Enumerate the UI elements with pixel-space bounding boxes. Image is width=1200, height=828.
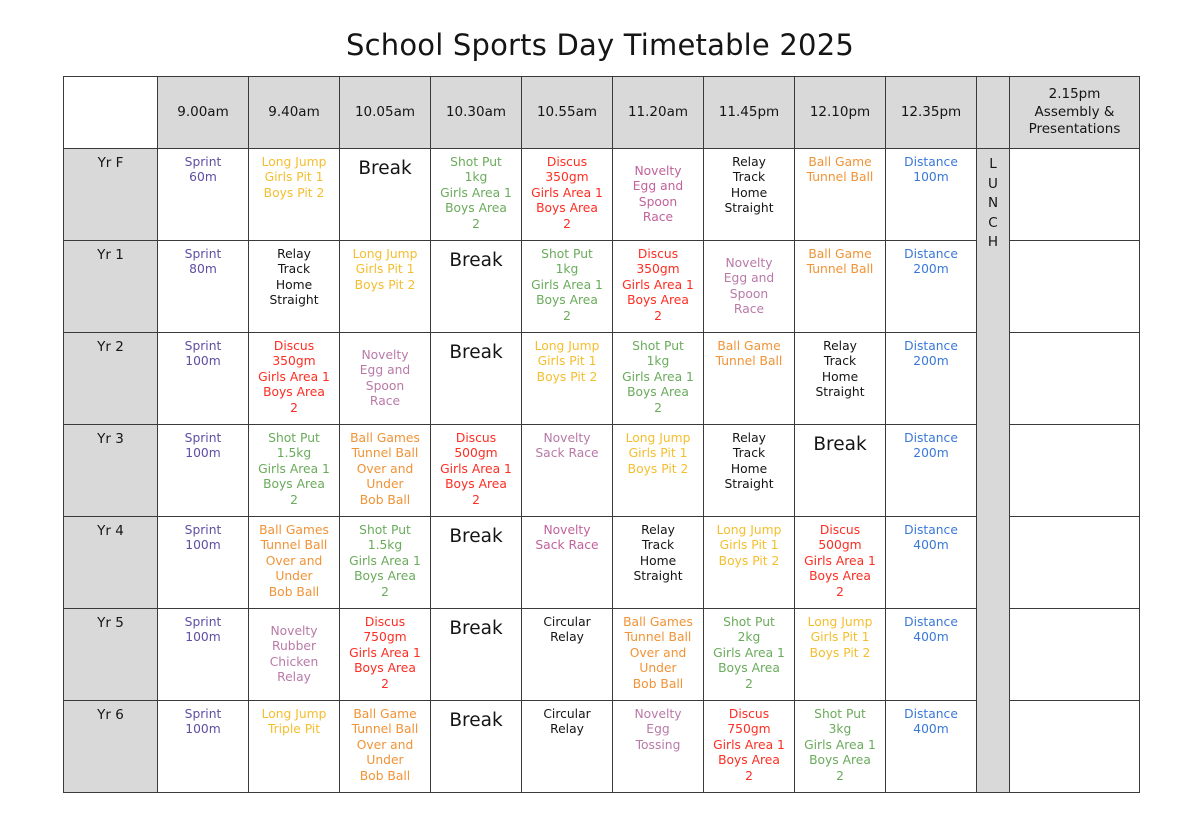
activity-line: 1.5kg — [252, 446, 336, 461]
activity-line: Shot Put — [434, 155, 518, 170]
activity-cell-yr-6-slot-1: Sprint100m — [158, 701, 249, 793]
activity-line: Sack Race — [525, 446, 609, 461]
activity-line: Distance — [889, 339, 973, 354]
activity-line: Girls Area 1 — [252, 370, 336, 385]
activity-cell-yr-5-slot-5: CircularRelay — [522, 609, 613, 701]
activity-line: Rubber — [252, 639, 336, 654]
activity-cell-yr-6-slot-4: Break — [431, 701, 522, 793]
activity-line: Tunnel Ball — [798, 262, 882, 277]
lunch-letter: U — [980, 175, 1006, 195]
activity-line: Boys Area — [798, 753, 882, 768]
header-assembly-line: Assembly & — [1012, 104, 1137, 122]
activity-line: 2 — [343, 677, 427, 692]
activity-cell-yr-2-slot-5: Long JumpGirls Pit 1Boys Pit 2 — [522, 333, 613, 425]
activity-line: Relay — [707, 431, 791, 446]
activity-line: Girls Area 1 — [798, 554, 882, 569]
activity-line: Under — [252, 569, 336, 584]
assembly-cell-yr-2[interactable] — [1010, 333, 1140, 425]
activity-line: Tossing — [616, 738, 700, 753]
activity-cell-yr-3-slot-9: Distance200m — [886, 425, 977, 517]
activity-line: Shot Put — [343, 523, 427, 538]
activity-line: Track — [707, 446, 791, 461]
activity-line: Sprint — [161, 339, 245, 354]
activity-line: Over and — [343, 462, 427, 477]
activity-cell-yr-3-slot-4: Discus500gmGirls Area 1Boys Area2 — [431, 425, 522, 517]
assembly-cell-yr-f[interactable] — [1010, 149, 1140, 241]
activity-cell-yr-3-slot-6: Long JumpGirls Pit 1Boys Pit 2 — [613, 425, 704, 517]
activity-cell-yr-3-slot-1: Sprint100m — [158, 425, 249, 517]
activity-line: Circular — [525, 707, 609, 722]
activity-line: Track — [707, 170, 791, 185]
activity-line: Straight — [252, 293, 336, 308]
activity-line: Girls Area 1 — [616, 370, 700, 385]
timetable-page: School Sports Day Timetable 2025 9.00am9… — [0, 0, 1200, 828]
activity-line: Long Jump — [343, 247, 427, 262]
activity-line: Shot Put — [798, 707, 882, 722]
activity-line: Over and — [343, 738, 427, 753]
activity-cell-yr-f-slot-2: Long JumpGirls Pit 1Boys Pit 2 — [249, 149, 340, 241]
activity-line: Boys Pit 2 — [707, 554, 791, 569]
activity-line: Egg — [616, 722, 700, 737]
activity-cell-yr-1-slot-3: Long JumpGirls Pit 1Boys Pit 2 — [340, 241, 431, 333]
activity-line: Girls Area 1 — [616, 278, 700, 293]
activity-line: 200m — [889, 354, 973, 369]
activity-cell-yr-3-slot-2: Shot Put1.5kgGirls Area 1Boys Area2 — [249, 425, 340, 517]
activity-line: Discus — [798, 523, 882, 538]
activity-line: Boys Area — [343, 569, 427, 584]
activity-line: Novelty — [616, 707, 700, 722]
activity-cell-yr-f-slot-3: Break — [340, 149, 431, 241]
activity-line: Sprint — [161, 615, 245, 630]
activity-line: 100m — [161, 722, 245, 737]
lunch-letter: C — [980, 214, 1006, 234]
assembly-cell-yr-3[interactable] — [1010, 425, 1140, 517]
activity-cell-yr-4-slot-3: Shot Put1.5kgGirls Area 1Boys Area2 — [340, 517, 431, 609]
year-label-yr-1: Yr 1 — [64, 241, 158, 333]
activity-line: Break — [343, 157, 427, 180]
activity-line: Chicken — [252, 655, 336, 670]
activity-cell-yr-4-slot-2: Ball GamesTunnel BallOver andUnderBob Ba… — [249, 517, 340, 609]
activity-line: 2 — [252, 493, 336, 508]
activity-line: Break — [434, 341, 518, 364]
activity-cell-yr-6-slot-6: NoveltyEggTossing — [613, 701, 704, 793]
activity-line: Long Jump — [252, 155, 336, 170]
activity-cell-yr-f-slot-5: Discus350gmGirls Area 1Boys Area2 — [522, 149, 613, 241]
activity-line: 2 — [616, 309, 700, 324]
activity-cell-yr-6-slot-7: Discus750gmGirls Area 1Boys Area2 — [704, 701, 795, 793]
activity-line: 100m — [889, 170, 973, 185]
activity-line: Straight — [616, 569, 700, 584]
activity-line: 100m — [161, 446, 245, 461]
activity-line: Race — [343, 394, 427, 409]
activity-line: 1.5kg — [343, 538, 427, 553]
activity-line: 2 — [798, 769, 882, 784]
activity-line: Ball Game — [798, 247, 882, 262]
lunch-letter: L — [980, 155, 1006, 175]
activity-line: 2 — [525, 217, 609, 232]
activity-line: Relay — [707, 155, 791, 170]
lunch-label-vertical: LUNCH — [980, 155, 1006, 253]
header-time-slot-1: 9.00am — [158, 77, 249, 149]
activity-line: 60m — [161, 170, 245, 185]
activity-cell-yr-4-slot-6: RelayTrackHomeStraight — [613, 517, 704, 609]
activity-line: Sprint — [161, 247, 245, 262]
activity-line: Girls Pit 1 — [616, 446, 700, 461]
activity-line: Relay — [616, 523, 700, 538]
activity-line: Tunnel Ball — [343, 446, 427, 461]
activity-line: 2kg — [707, 630, 791, 645]
activity-line: 3kg — [798, 722, 882, 737]
activity-line: Discus — [616, 247, 700, 262]
activity-line: Boys Area — [798, 569, 882, 584]
activity-line: Boys Area — [343, 661, 427, 676]
activity-line: Long Jump — [707, 523, 791, 538]
activity-line: Spoon — [707, 287, 791, 302]
activity-line: Distance — [889, 523, 973, 538]
header-time-slot-3: 10.05am — [340, 77, 431, 149]
timetable-header-row: 9.00am9.40am10.05am10.30am10.55am11.20am… — [64, 77, 1140, 149]
activity-line: Home — [707, 186, 791, 201]
activity-line: 80m — [161, 262, 245, 277]
lunch-letter: H — [980, 233, 1006, 253]
activity-line: Sprint — [161, 707, 245, 722]
assembly-cell-yr-6[interactable] — [1010, 701, 1140, 793]
activity-cell-yr-5-slot-7: Shot Put2kgGirls Area 1Boys Area2 — [704, 609, 795, 701]
activity-line: Distance — [889, 247, 973, 262]
activity-cell-yr-f-slot-7: RelayTrackHomeStraight — [704, 149, 795, 241]
activity-line: Relay — [525, 630, 609, 645]
activity-line: Break — [434, 525, 518, 548]
activity-line: Race — [616, 210, 700, 225]
activity-line: Sprint — [161, 431, 245, 446]
header-time-slot-7: 11.45pm — [704, 77, 795, 149]
activity-line: Sprint — [161, 523, 245, 538]
activity-line: 1kg — [616, 354, 700, 369]
activity-cell-yr-6-slot-9: Distance400m — [886, 701, 977, 793]
activity-line: 1kg — [525, 262, 609, 277]
activity-line: Home — [798, 370, 882, 385]
activity-line: 400m — [889, 722, 973, 737]
activity-line: Novelty — [343, 348, 427, 363]
activity-line: Girls Pit 1 — [707, 538, 791, 553]
activity-line: Novelty — [707, 256, 791, 271]
activity-line: Bob Ball — [252, 585, 336, 600]
activity-line: Over and — [252, 554, 336, 569]
activity-cell-yr-1-slot-7: NoveltyEgg andSpoonRace — [704, 241, 795, 333]
activity-line: Boys Area — [252, 477, 336, 492]
header-time-slot-2: 9.40am — [249, 77, 340, 149]
activity-cell-yr-4-slot-5: NoveltySack Race — [522, 517, 613, 609]
activity-line: 2 — [525, 309, 609, 324]
activity-line: Novelty — [616, 164, 700, 179]
activity-cell-yr-1-slot-9: Distance200m — [886, 241, 977, 333]
activity-line: Ball Game — [343, 707, 427, 722]
activity-line: Bob Ball — [343, 769, 427, 784]
activity-cell-yr-2-slot-7: Ball GameTunnel Ball — [704, 333, 795, 425]
activity-cell-yr-5-slot-1: Sprint100m — [158, 609, 249, 701]
activity-line: Discus — [707, 707, 791, 722]
header-lunch-cell — [977, 77, 1010, 149]
activity-line: 750gm — [707, 722, 791, 737]
activity-line: Break — [798, 433, 882, 456]
year-label-yr-f: Yr F — [64, 149, 158, 241]
activity-line: Boys Pit 2 — [252, 186, 336, 201]
activity-line: Home — [707, 462, 791, 477]
activity-line: 100m — [161, 630, 245, 645]
activity-line: Novelty — [525, 431, 609, 446]
activity-cell-yr-2-slot-3: NoveltyEgg andSpoonRace — [340, 333, 431, 425]
activity-line: Shot Put — [252, 431, 336, 446]
activity-line: Boys Area — [434, 477, 518, 492]
activity-line: 2 — [798, 585, 882, 600]
activity-line: Girls Area 1 — [798, 738, 882, 753]
activity-cell-yr-2-slot-1: Sprint100m — [158, 333, 249, 425]
activity-line: Triple Pit — [252, 722, 336, 737]
activity-line: Boys Area — [707, 753, 791, 768]
activity-cell-yr-3-slot-3: Ball GamesTunnel BallOver andUnderBob Ba… — [340, 425, 431, 517]
year-label-yr-5: Yr 5 — [64, 609, 158, 701]
activity-cell-yr-3-slot-7: RelayTrackHomeStraight — [704, 425, 795, 517]
activity-line: Distance — [889, 431, 973, 446]
lunch-column: LUNCH — [977, 149, 1010, 793]
activity-line: Boys Pit 2 — [798, 646, 882, 661]
activity-line: Girls Area 1 — [525, 186, 609, 201]
activity-line: Ball Games — [343, 431, 427, 446]
page-title: School Sports Day Timetable 2025 — [0, 0, 1200, 76]
timetable-container: 9.00am9.40am10.05am10.30am10.55am11.20am… — [0, 76, 1200, 793]
activity-line: Discus — [434, 431, 518, 446]
activity-line: 500gm — [434, 446, 518, 461]
activity-line: Boys Area — [616, 385, 700, 400]
activity-line: 200m — [889, 262, 973, 277]
activity-line: Tunnel Ball — [798, 170, 882, 185]
activity-line: Tunnel Ball — [343, 722, 427, 737]
activity-line: Distance — [889, 615, 973, 630]
activity-line: Shot Put — [525, 247, 609, 262]
activity-line: 350gm — [525, 170, 609, 185]
activity-line: Girls Pit 1 — [798, 630, 882, 645]
sports-day-timetable: 9.00am9.40am10.05am10.30am10.55am11.20am… — [63, 76, 1140, 793]
activity-line: Bob Ball — [343, 493, 427, 508]
activity-cell-yr-1-slot-1: Sprint80m — [158, 241, 249, 333]
activity-line: Girls Area 1 — [252, 462, 336, 477]
activity-line: Girls Area 1 — [434, 462, 518, 477]
activity-line: Girls Area 1 — [707, 646, 791, 661]
activity-line: Track — [616, 538, 700, 553]
activity-line: Girls Area 1 — [707, 738, 791, 753]
lunch-letter: N — [980, 194, 1006, 214]
header-time-slot-4: 10.30am — [431, 77, 522, 149]
activity-line: Over and — [616, 646, 700, 661]
activity-line: Race — [707, 302, 791, 317]
year-label-yr-3: Yr 3 — [64, 425, 158, 517]
activity-line: Sack Race — [525, 538, 609, 553]
activity-line: Girls Area 1 — [525, 278, 609, 293]
activity-line: Girls Area 1 — [343, 554, 427, 569]
activity-cell-yr-5-slot-6: Ball GamesTunnel BallOver andUnderBob Ba… — [613, 609, 704, 701]
activity-line: Ball Games — [252, 523, 336, 538]
activity-line: Break — [434, 709, 518, 732]
activity-line: Straight — [707, 477, 791, 492]
activity-line: Relay — [525, 722, 609, 737]
activity-line: Under — [616, 661, 700, 676]
activity-line: Girls Pit 1 — [343, 262, 427, 277]
activity-line: 2 — [707, 769, 791, 784]
activity-line: Novelty — [525, 523, 609, 538]
header-assembly-line: Presentations — [1012, 121, 1137, 139]
activity-line: Long Jump — [798, 615, 882, 630]
activity-line: Boys Pit 2 — [616, 462, 700, 477]
activity-cell-yr-2-slot-8: RelayTrackHomeStraight — [795, 333, 886, 425]
activity-cell-yr-3-slot-8: Break — [795, 425, 886, 517]
activity-cell-yr-5-slot-2: NoveltyRubberChickenRelay — [249, 609, 340, 701]
activity-line: Circular — [525, 615, 609, 630]
activity-cell-yr-f-slot-8: Ball GameTunnel Ball — [795, 149, 886, 241]
activity-line: Girls Pit 1 — [525, 354, 609, 369]
activity-line: Distance — [889, 707, 973, 722]
activity-line: Track — [798, 354, 882, 369]
activity-line: 100m — [161, 538, 245, 553]
activity-line: Break — [434, 617, 518, 640]
activity-cell-yr-4-slot-9: Distance400m — [886, 517, 977, 609]
assembly-cell-yr-5[interactable] — [1010, 609, 1140, 701]
activity-line: Boys Pit 2 — [525, 370, 609, 385]
activity-cell-yr-6-slot-2: Long JumpTriple Pit — [249, 701, 340, 793]
activity-cell-yr-6-slot-3: Ball GameTunnel BallOver andUnderBob Bal… — [340, 701, 431, 793]
activity-line: Relay — [798, 339, 882, 354]
activity-line: Relay — [252, 670, 336, 685]
year-label-yr-4: Yr 4 — [64, 517, 158, 609]
activity-line: Ball Games — [616, 615, 700, 630]
activity-cell-yr-3-slot-5: NoveltySack Race — [522, 425, 613, 517]
activity-line: 1kg — [434, 170, 518, 185]
activity-line: Discus — [252, 339, 336, 354]
activity-line: Home — [616, 554, 700, 569]
activity-line: Boys Area — [434, 201, 518, 216]
activity-line: Tunnel Ball — [707, 354, 791, 369]
activity-line: Ball Game — [798, 155, 882, 170]
activity-line: Under — [343, 753, 427, 768]
activity-line: Tunnel Ball — [616, 630, 700, 645]
activity-line: Bob Ball — [616, 677, 700, 692]
activity-line: 400m — [889, 538, 973, 553]
activity-line: Long Jump — [252, 707, 336, 722]
activity-line: Novelty — [252, 624, 336, 639]
activity-line: Girls Area 1 — [434, 186, 518, 201]
activity-cell-yr-2-slot-4: Break — [431, 333, 522, 425]
activity-line: Discus — [525, 155, 609, 170]
activity-line: 2 — [434, 217, 518, 232]
activity-line: 750gm — [343, 630, 427, 645]
activity-cell-yr-1-slot-4: Break — [431, 241, 522, 333]
header-time-slot-8: 12.10pm — [795, 77, 886, 149]
activity-cell-yr-6-slot-5: CircularRelay — [522, 701, 613, 793]
activity-line: Straight — [707, 201, 791, 216]
year-label-yr-2: Yr 2 — [64, 333, 158, 425]
activity-line: Girls Area 1 — [343, 646, 427, 661]
header-corner-cell — [64, 77, 158, 149]
activity-cell-yr-4-slot-8: Discus500gmGirls Area 1Boys Area2 — [795, 517, 886, 609]
activity-line: 2 — [707, 677, 791, 692]
activity-cell-yr-4-slot-4: Break — [431, 517, 522, 609]
activity-cell-yr-4-slot-7: Long JumpGirls Pit 1Boys Pit 2 — [704, 517, 795, 609]
activity-line: Boys Pit 2 — [343, 278, 427, 293]
activity-line: Home — [252, 278, 336, 293]
activity-line: Boys Area — [616, 293, 700, 308]
activity-line: Distance — [889, 155, 973, 170]
activity-line: Tunnel Ball — [252, 538, 336, 553]
activity-line: Relay — [252, 247, 336, 262]
activity-line: Break — [434, 249, 518, 272]
header-assembly-line: 2.15pm — [1012, 86, 1137, 104]
activity-cell-yr-f-slot-1: Sprint60m — [158, 149, 249, 241]
activity-line: Boys Area — [525, 201, 609, 216]
assembly-cell-yr-1[interactable] — [1010, 241, 1140, 333]
activity-cell-yr-2-slot-2: Discus350gmGirls Area 1Boys Area2 — [249, 333, 340, 425]
assembly-cell-yr-4[interactable] — [1010, 517, 1140, 609]
activity-cell-yr-2-slot-9: Distance200m — [886, 333, 977, 425]
activity-line: 2 — [434, 493, 518, 508]
timetable-body: 9.00am9.40am10.05am10.30am10.55am11.20am… — [64, 77, 1140, 793]
activity-line: Egg and — [616, 179, 700, 194]
activity-line: Girls Pit 1 — [252, 170, 336, 185]
header-time-slot-9: 12.35pm — [886, 77, 977, 149]
activity-line: Sprint — [161, 155, 245, 170]
activity-line: Egg and — [343, 363, 427, 378]
activity-line: Spoon — [616, 195, 700, 210]
activity-line: Boys Area — [525, 293, 609, 308]
activity-cell-yr-1-slot-5: Shot Put1kgGirls Area 1Boys Area2 — [522, 241, 613, 333]
activity-line: 2 — [343, 585, 427, 600]
activity-line: Shot Put — [616, 339, 700, 354]
header-assembly-cell: 2.15pmAssembly &Presentations — [1010, 77, 1140, 149]
activity-line: 200m — [889, 446, 973, 461]
activity-line: Under — [343, 477, 427, 492]
activity-cell-yr-5-slot-3: Discus750gmGirls Area 1Boys Area2 — [340, 609, 431, 701]
year-label-yr-6: Yr 6 — [64, 701, 158, 793]
activity-cell-yr-5-slot-4: Break — [431, 609, 522, 701]
activity-cell-yr-2-slot-6: Shot Put1kgGirls Area 1Boys Area2 — [613, 333, 704, 425]
activity-cell-yr-1-slot-8: Ball GameTunnel Ball — [795, 241, 886, 333]
activity-line: 2 — [616, 401, 700, 416]
activity-cell-yr-5-slot-9: Distance400m — [886, 609, 977, 701]
activity-cell-yr-5-slot-8: Long JumpGirls Pit 1Boys Pit 2 — [795, 609, 886, 701]
activity-line: 500gm — [798, 538, 882, 553]
activity-line: 350gm — [616, 262, 700, 277]
activity-line: Boys Area — [252, 385, 336, 400]
timetable-row-yr-f: Yr FSprint60mLong JumpGirls Pit 1Boys Pi… — [64, 149, 1140, 241]
activity-line: 350gm — [252, 354, 336, 369]
activity-line: Discus — [343, 615, 427, 630]
activity-cell-yr-1-slot-6: Discus350gmGirls Area 1Boys Area2 — [613, 241, 704, 333]
activity-cell-yr-6-slot-8: Shot Put3kgGirls Area 1Boys Area2 — [795, 701, 886, 793]
activity-line: Straight — [798, 385, 882, 400]
header-time-slot-5: 10.55am — [522, 77, 613, 149]
activity-cell-yr-4-slot-1: Sprint100m — [158, 517, 249, 609]
activity-line: 400m — [889, 630, 973, 645]
activity-line: 100m — [161, 354, 245, 369]
activity-line: Track — [252, 262, 336, 277]
activity-cell-yr-1-slot-2: RelayTrackHomeStraight — [249, 241, 340, 333]
activity-line: Long Jump — [525, 339, 609, 354]
activity-line: 2 — [252, 401, 336, 416]
activity-cell-yr-f-slot-9: Distance100m — [886, 149, 977, 241]
activity-line: Shot Put — [707, 615, 791, 630]
header-time-slot-6: 11.20am — [613, 77, 704, 149]
activity-line: Spoon — [343, 379, 427, 394]
activity-line: Ball Game — [707, 339, 791, 354]
activity-line: Boys Area — [707, 661, 791, 676]
